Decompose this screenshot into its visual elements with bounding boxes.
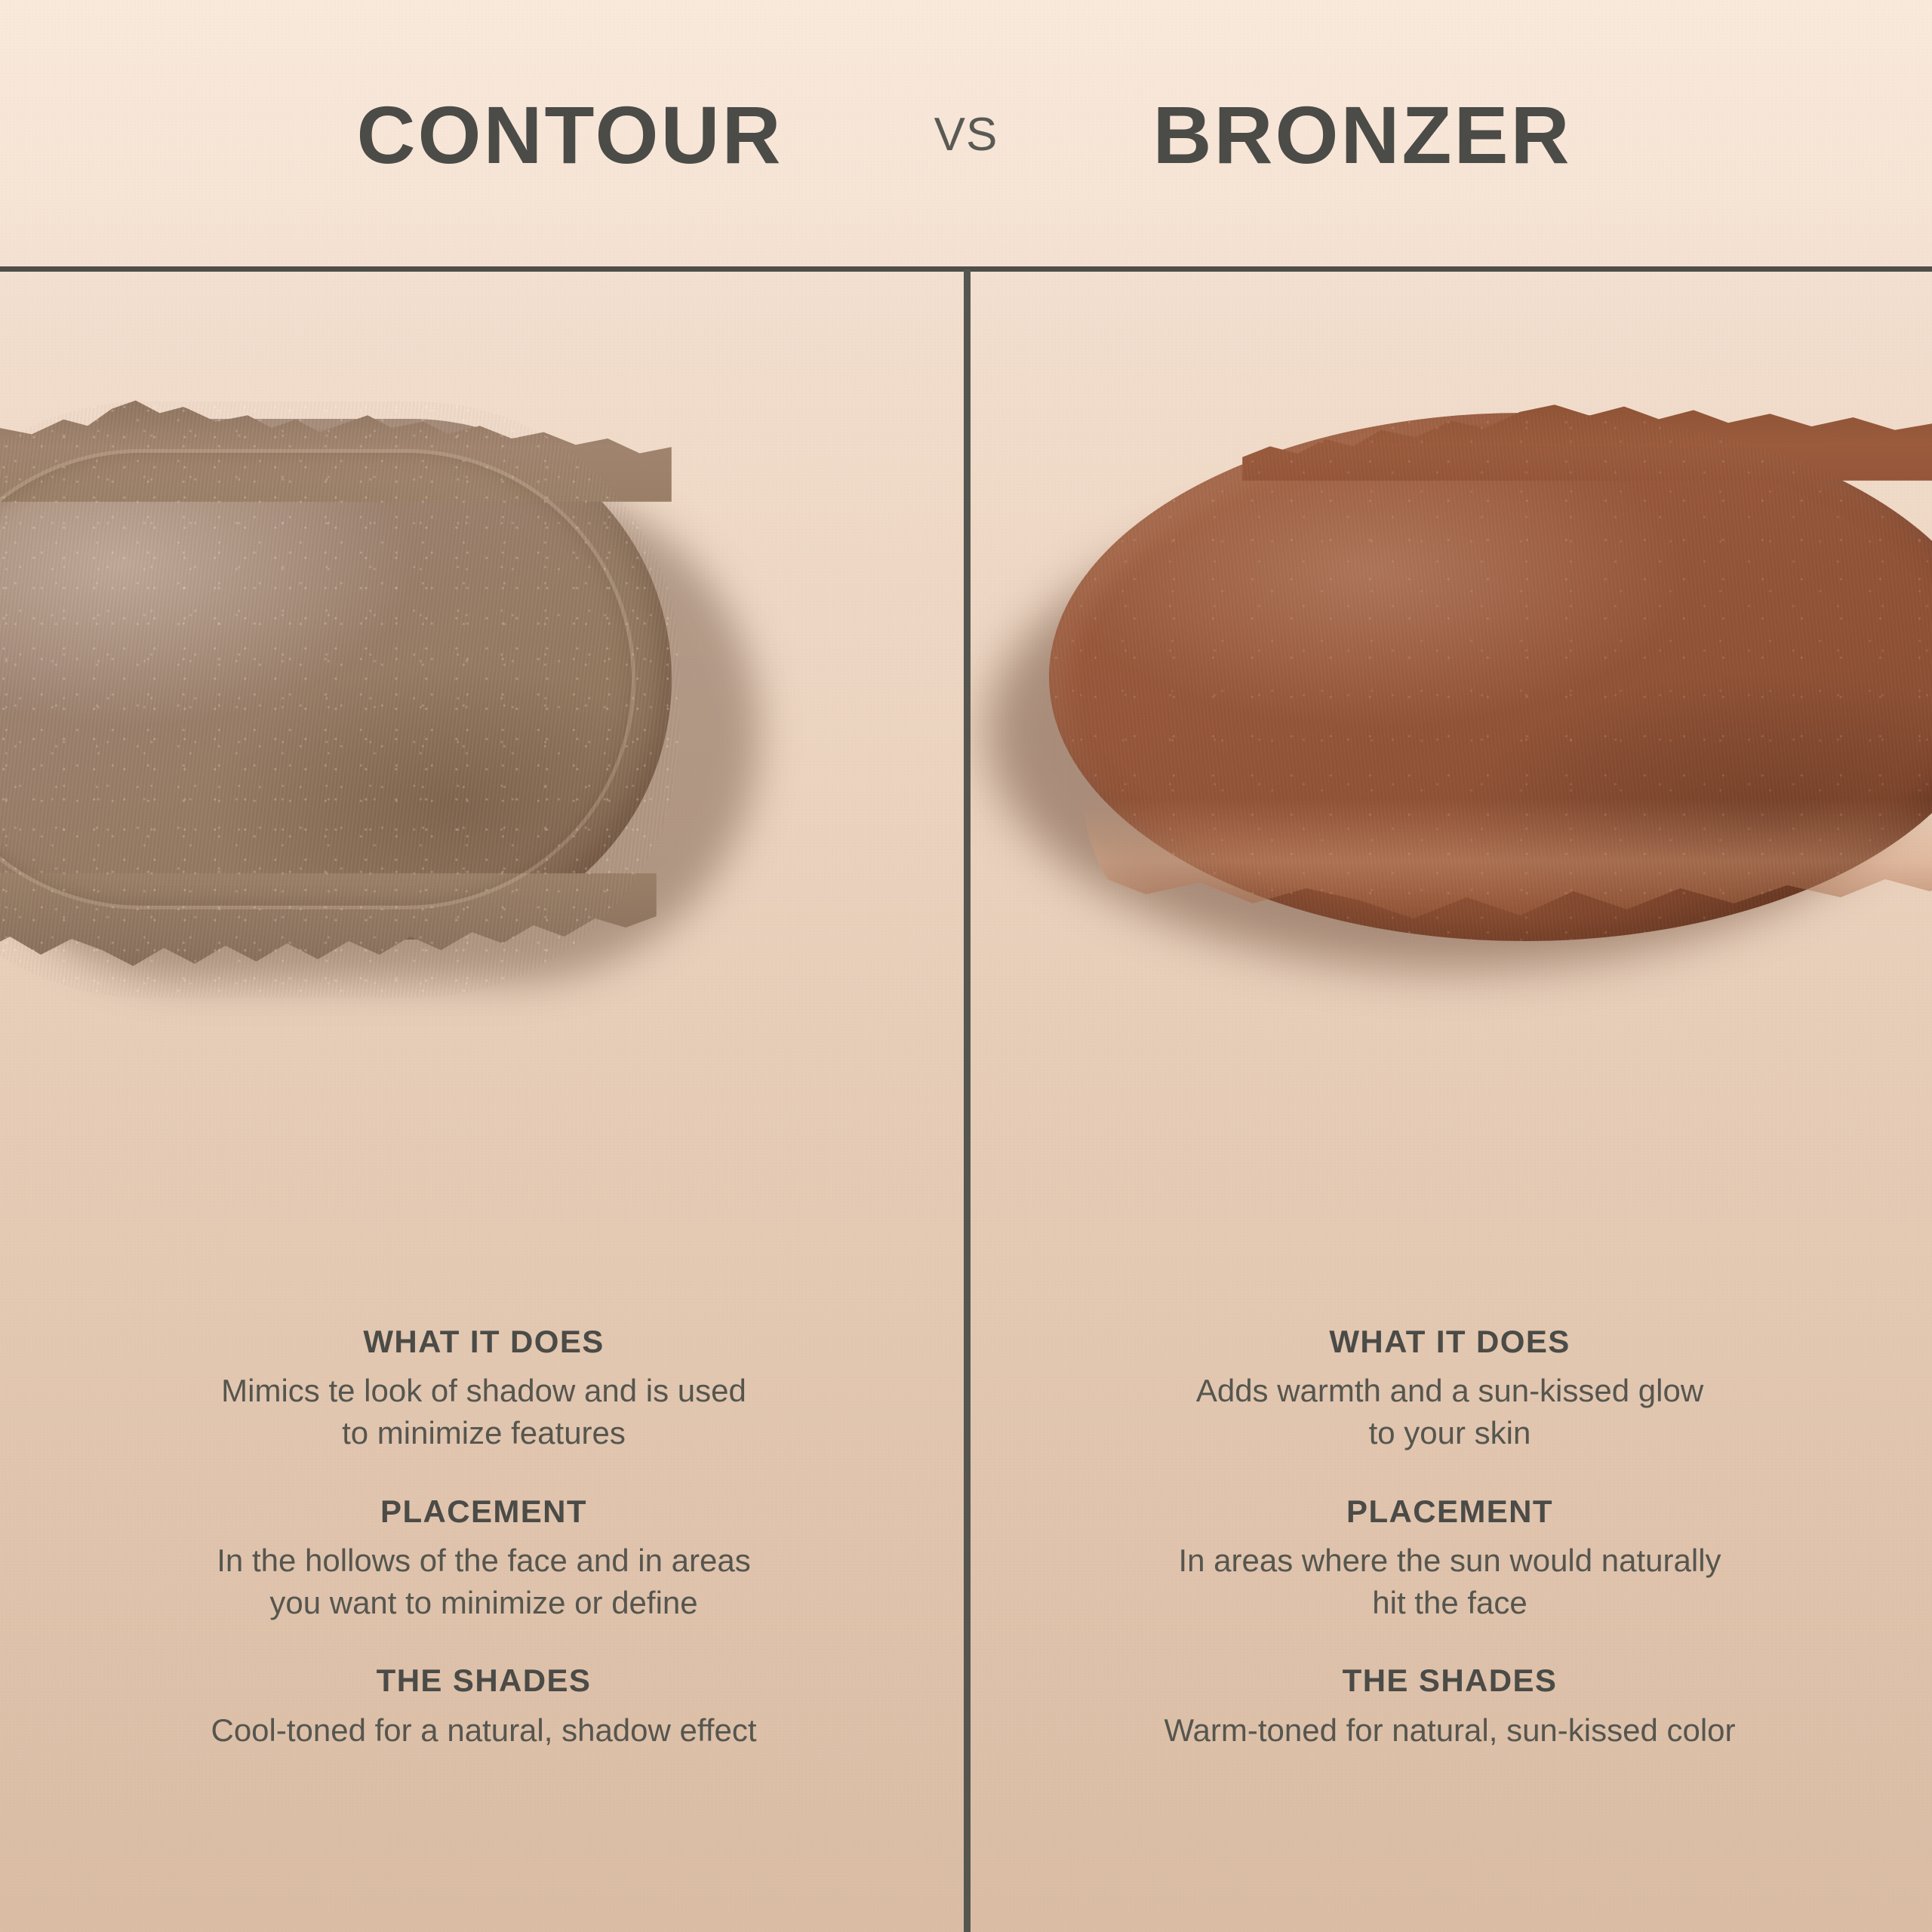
contour-body-what-it-does: Mimics te look of shadow and is used to … (57, 1370, 910, 1455)
text-line: In areas where the sun would naturally (1023, 1540, 1876, 1582)
text-line: In the hollows of the face and in areas (57, 1540, 910, 1582)
bronzer-body-placement: In areas where the sun would naturally h… (1023, 1540, 1876, 1625)
bronzer-heading-placement: PLACEMENT (1023, 1494, 1876, 1529)
vs-separator: VS (934, 109, 998, 161)
vertical-divider (964, 269, 971, 1932)
title-contour: CONTOUR (272, 94, 868, 176)
bronzer-heading-what-it-does: WHAT IT DOES (1023, 1324, 1876, 1359)
contour-text-column: WHAT IT DOES Mimics te look of shadow an… (57, 1324, 910, 1752)
contour-block-what-it-does: WHAT IT DOES Mimics te look of shadow an… (57, 1324, 910, 1455)
contour-heading-the-shades: THE SHADES (57, 1663, 910, 1698)
bronzer-body-what-it-does: Adds warmth and a sun-kissed glow to you… (1023, 1370, 1876, 1455)
text-line: Cool-toned for a natural, shadow effect (57, 1709, 910, 1752)
contour-body-the-shades: Cool-toned for a natural, shadow effect (57, 1709, 910, 1752)
text-line: hit the face (1023, 1582, 1876, 1624)
bronzer-heading-the-shades: THE SHADES (1023, 1663, 1876, 1698)
contour-heading-placement: PLACEMENT (57, 1494, 910, 1529)
text-line: you want to minimize or define (57, 1582, 910, 1624)
contour-block-placement: PLACEMENT In the hollows of the face and… (57, 1494, 910, 1625)
bronzer-block-the-shades: THE SHADES Warm-toned for natural, sun-k… (1023, 1663, 1876, 1751)
comparison-poster: CONTOUR VS BRONZER WHAT IT DOES Mimics t… (0, 0, 1932, 1932)
contour-heading-what-it-does: WHAT IT DOES (57, 1324, 910, 1359)
text-line: Adds warmth and a sun-kissed glow (1023, 1370, 1876, 1412)
text-line: to your skin (1023, 1412, 1876, 1454)
bronzer-block-placement: PLACEMENT In areas where the sun would n… (1023, 1494, 1876, 1625)
text-line: to minimize features (57, 1412, 910, 1454)
text-line: Warm-toned for natural, sun-kissed color (1023, 1709, 1876, 1752)
text-line: Mimics te look of shadow and is used (57, 1370, 910, 1412)
contour-block-the-shades: THE SHADES Cool-toned for a natural, sha… (57, 1663, 910, 1751)
poster-header: CONTOUR VS BRONZER (0, 0, 1932, 269)
bronzer-block-what-it-does: WHAT IT DOES Adds warmth and a sun-kisse… (1023, 1324, 1876, 1455)
vs-separator-wrap: VS (868, 112, 1064, 158)
bronzer-body-the-shades: Warm-toned for natural, sun-kissed color (1023, 1709, 1876, 1752)
contour-swatch-top-edge (0, 396, 672, 502)
bronzer-text-column: WHAT IT DOES Adds warmth and a sun-kisse… (1023, 1324, 1876, 1752)
contour-body-placement: In the hollows of the face and in areas … (57, 1540, 910, 1625)
title-bronzer: BRONZER (1064, 94, 1660, 176)
